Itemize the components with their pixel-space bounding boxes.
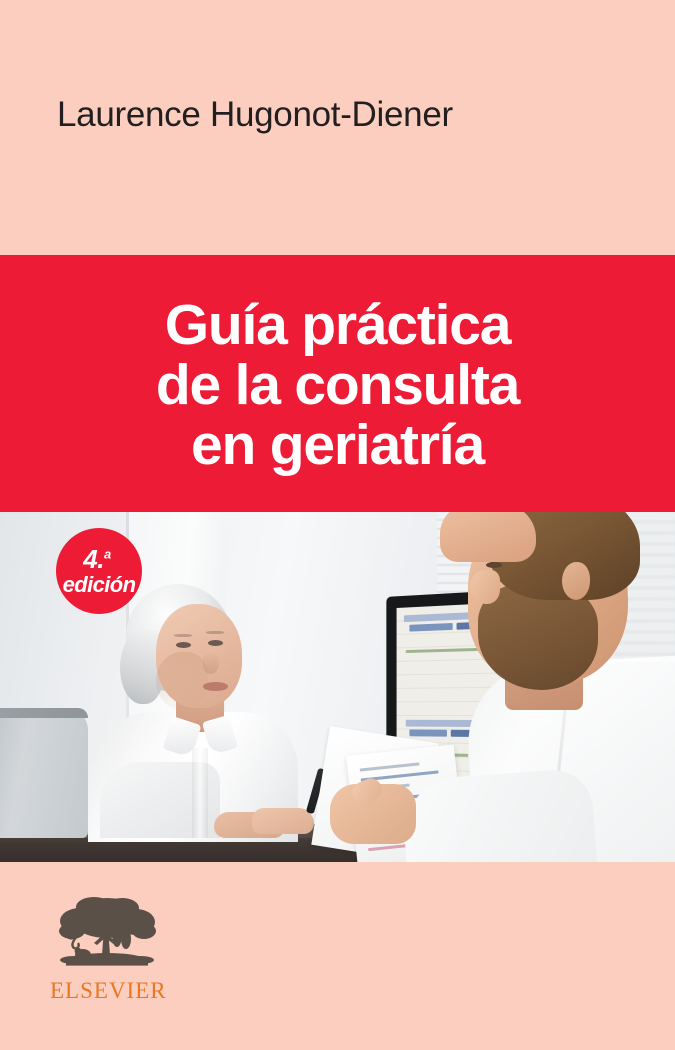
edition-number: 4.a [83, 546, 110, 572]
photo-doctor-nose [470, 570, 500, 604]
photo-monitor-bar [409, 729, 447, 736]
publisher-logo: ELSEVIER [50, 893, 170, 1004]
photo-doctor-ear [562, 562, 590, 600]
photo-patient-face-shading [156, 652, 208, 710]
edition-word: edición [63, 574, 136, 596]
edition-number-text: 4. [83, 544, 104, 574]
photo-patient-hand-right [252, 808, 314, 834]
photo-patient-eye-left [176, 642, 191, 648]
photo-patient-blouse-placket [192, 748, 208, 838]
photo-doctor-hand-upper [440, 512, 536, 562]
edition-ordinal-suffix: a [104, 546, 111, 561]
title-line-2: de la consulta [0, 355, 675, 415]
title-band: Guía práctica de la consulta en geriatrí… [0, 255, 675, 512]
photo-document-line [360, 762, 420, 771]
publisher-name: ELSEVIER [50, 978, 164, 1004]
book-title: Guía práctica de la consulta en geriatrí… [0, 295, 675, 475]
photo-doctor-eye [486, 562, 502, 568]
title-line-3: en geriatría [0, 415, 675, 475]
photo-chair [0, 708, 88, 838]
author-name: Laurence Hugonot-Diener [57, 95, 453, 135]
photo-chair-edge [0, 708, 88, 718]
title-line-1: Guía práctica [0, 295, 675, 355]
photo-patient-eyebrow-left [174, 634, 192, 637]
book-cover: Laurence Hugonot-Diener Guía práctica de… [0, 0, 675, 1050]
photo-patient-eye-right [208, 640, 223, 646]
photo-patient-mouth [203, 682, 228, 691]
photo-patient-nose [203, 652, 219, 674]
elsevier-tree-icon [50, 893, 164, 975]
photo-patient-eyebrow-right [206, 631, 224, 634]
edition-badge: 4.a edición [56, 528, 142, 614]
